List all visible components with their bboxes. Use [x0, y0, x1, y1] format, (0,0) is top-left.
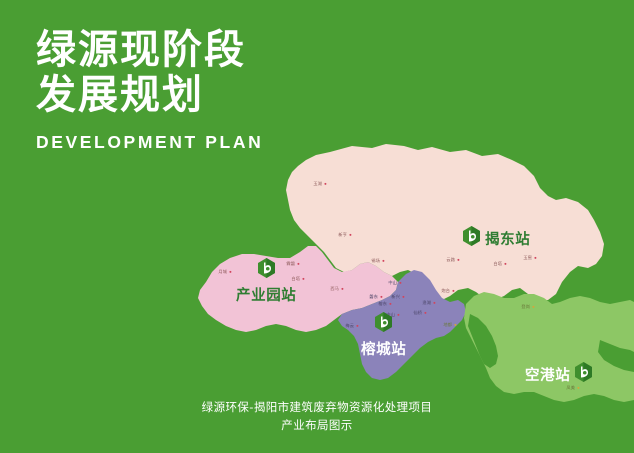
town-label: 地都: [443, 323, 452, 327]
station-rongcheng-label: 榕城站: [361, 338, 406, 359]
town-marker: 渔湖: [422, 301, 435, 305]
town-marker: 磐东: [369, 295, 382, 299]
town-marker: 月城: [218, 270, 231, 274]
town-label: 白塔: [493, 262, 502, 266]
town-label: 梅云: [345, 324, 354, 328]
town-label: 西马: [330, 287, 339, 291]
town-marker: 中山: [388, 281, 401, 285]
town-dot-icon: [457, 259, 460, 262]
town-label: 磐东: [369, 295, 378, 299]
town-dot-icon: [349, 234, 352, 237]
town-dot-icon: [297, 263, 300, 266]
station-chanyeyuan[interactable]: 产业园站: [236, 258, 296, 305]
station-jiedong[interactable]: 揭东站: [463, 226, 530, 251]
town-label: 中山: [388, 281, 397, 285]
town-dot-icon: [341, 288, 344, 291]
town-dot-icon: [302, 278, 305, 281]
town-dot-icon: [532, 306, 535, 309]
lvyuan-logo-icon: [575, 362, 592, 387]
town-dot-icon: [452, 290, 455, 293]
town-label: 登岗: [521, 305, 530, 309]
development-plan-poster: 绿源现阶段 发展规划 DEVELOPMENT PLAN 揭东站 产业园站: [0, 0, 634, 453]
station-chanyeyuan-label: 产业园站: [236, 284, 296, 305]
town-marker: 西马: [330, 287, 343, 291]
town-label: 仙桥: [413, 311, 422, 315]
lvyuan-logo-icon: [258, 258, 275, 283]
town-dot-icon: [382, 260, 385, 263]
town-label: 玉湖: [313, 182, 322, 186]
town-marker: 新兴: [391, 295, 404, 299]
town-label: 锡场: [371, 259, 380, 263]
town-dot-icon: [433, 302, 436, 305]
town-dot-icon: [504, 263, 507, 266]
town-marker: 地都: [443, 323, 456, 327]
town-label: 渔湖: [422, 301, 431, 305]
town-marker: 玉窖: [523, 256, 536, 260]
town-dot-icon: [324, 183, 327, 186]
station-rongcheng[interactable]: 榕城站: [361, 312, 406, 359]
town-marker: 登岗: [521, 305, 534, 309]
town-label: 玉窖: [523, 256, 532, 260]
town-dot-icon: [389, 303, 392, 306]
town-marker: 梅云: [345, 324, 358, 328]
town-label: 云路: [446, 258, 455, 262]
town-marker: 仙桥: [413, 311, 426, 315]
town-dot-icon: [534, 257, 537, 260]
town-marker: 炮台: [441, 289, 454, 293]
town-dot-icon: [454, 324, 457, 327]
town-dot-icon: [577, 387, 580, 390]
station-jiedong-label: 揭东站: [485, 228, 530, 249]
town-label: 新兴: [391, 295, 400, 299]
town-marker: 榕东: [378, 302, 391, 306]
town-marker: 锡场: [371, 259, 384, 263]
town-marker: 玉湖: [313, 182, 326, 186]
town-label: 榕东: [378, 302, 387, 306]
town-marker: 新亨: [338, 233, 351, 237]
lvyuan-logo-icon: [463, 226, 480, 251]
town-marker: 云路: [446, 258, 459, 262]
town-dot-icon: [380, 296, 383, 299]
town-dot-icon: [399, 282, 402, 285]
town-label: 炮台: [441, 289, 450, 293]
town-dot-icon: [229, 271, 232, 274]
station-konggang[interactable]: 空港站: [525, 362, 592, 387]
lvyuan-logo-icon: [375, 312, 392, 337]
town-marker: 白塔: [493, 262, 506, 266]
town-dot-icon: [356, 325, 359, 328]
town-dot-icon: [402, 296, 405, 299]
station-konggang-label: 空港站: [525, 364, 570, 385]
town-dot-icon: [424, 312, 427, 315]
town-label: 月城: [218, 270, 227, 274]
town-label: 新亨: [338, 233, 347, 237]
